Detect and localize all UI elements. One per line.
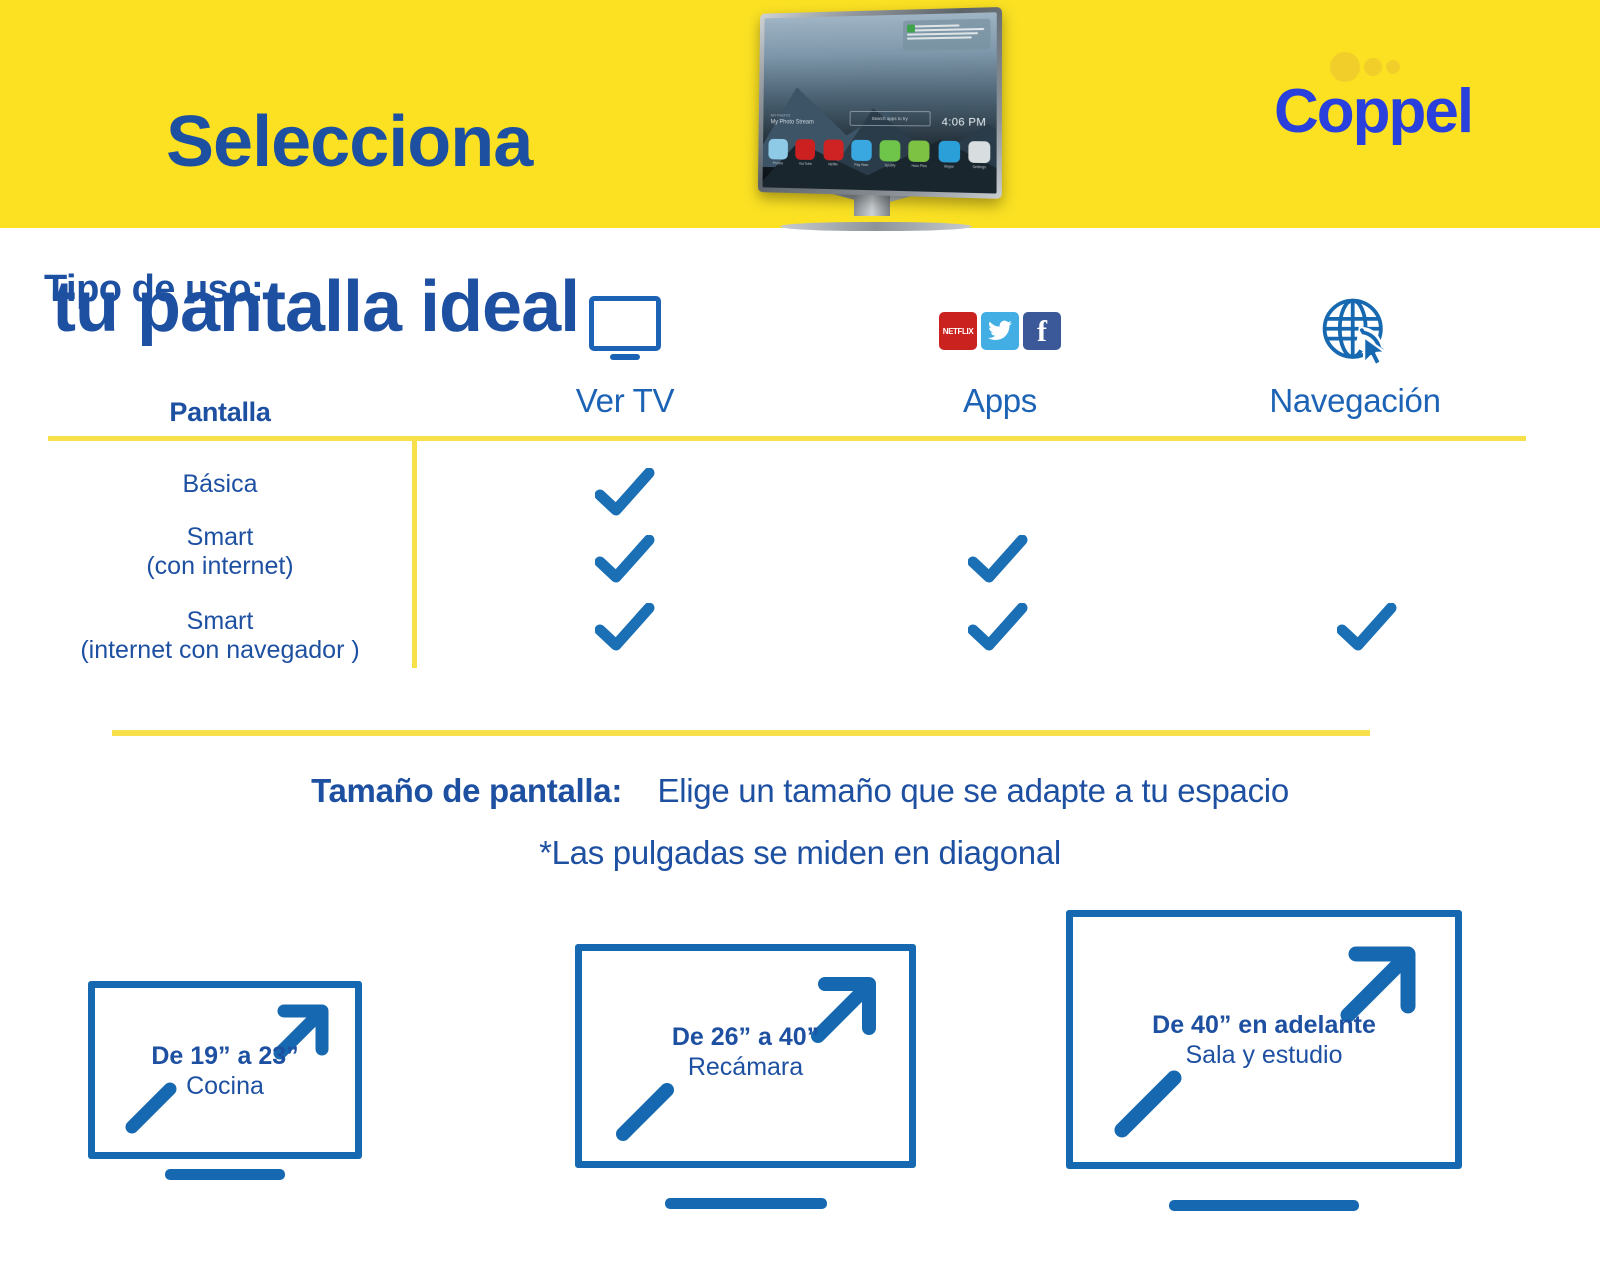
tv-dock-app: Hulu Plus [909,140,930,168]
tv-product-photo: MY PHOTO My Photo Stream Search apps to … [752,6,1010,242]
tv-dock-app: Pay Now [851,140,872,167]
column-header-apps: NETFLIX f Apps [885,292,1115,420]
column-label-vertv: Ver TV [576,382,674,419]
facebook-icon: f [1023,312,1061,350]
column-label-pantalla: Pantalla [169,397,270,427]
size-title: Tamaño de pantalla: [311,772,622,809]
tv-size-caption-small: De 19” a 23” Cocina [88,1041,362,1101]
tv-search-box: Search apps to try [850,111,931,126]
logo-wordmark: Coppel [1274,76,1472,147]
infographic-page: Selecciona tu pantalla ideal [0,0,1600,1280]
size-subtitle: Elige un tamaño que se adapte a tu espac… [658,772,1289,809]
column-label-navegacion: Navegación [1269,382,1440,419]
size-note: *Las pulgadas se miden en diagonal [0,834,1600,872]
twitter-icon [981,312,1019,350]
globe-cursor-icon [1317,293,1393,369]
tv-size-box-large: De 40” en adelante Sala y estudio [1066,910,1462,1169]
headline-line-1: Selecciona [166,102,532,182]
tv-size-box-small: De 19” a 23” Cocina [88,981,362,1159]
checkmark-smart-vertv [595,535,655,585]
tv-dock-app: Photos [768,139,788,166]
tv-dock-app: Spotify [880,140,901,168]
tv-size-box-mid: De 26” a 40” Recámara [575,944,916,1168]
tv-clock: 4:06 PM [942,116,986,129]
checkmark-smart-apps [968,535,1028,585]
checkmark-smart-navegador-apps [968,603,1028,653]
column-label-apps: Apps [963,382,1037,419]
checkmark-smart-navegador-navegacion [1337,603,1397,653]
netflix-icon: NETFLIX [939,312,977,350]
table-top-divider [48,436,1526,441]
checkmark-basica-vertv [595,468,655,518]
tv-size-stand-mid [665,1198,827,1209]
table-row-label-smart: Smart (con internet) [20,523,420,580]
tv-size-stand-small [165,1169,285,1180]
section-divider [112,730,1370,736]
tv-size-caption-large: De 40” en adelante Sala y estudio [1066,1010,1462,1070]
tv-size-stand-large [1169,1200,1359,1211]
tv-app-dock: Photos YouTube Netflix Pay Now Spotify H… [768,139,990,187]
column-header-navegacion: Navegación [1240,292,1470,420]
column-header-vertv: Ver TV [510,292,740,420]
tv-photo-stream-label: MY PHOTO My Photo Stream [771,113,814,128]
checkmark-smart-navegador-vertv [595,603,655,653]
app-tiles-icon: NETFLIX f [939,312,1061,350]
table-row-label-basica: Básica [20,470,420,499]
tv-photo-stream-small: MY PHOTO [771,113,814,119]
coppel-logo: Coppel [1274,52,1484,162]
header-banner: Selecciona tu pantalla ideal [0,0,1600,228]
tv-dock-app: YouTube [795,139,815,166]
table-row-label-smart-navegador: Smart (internet con navegador ) [20,607,420,664]
tv-photo-bezel: MY PHOTO My Photo Stream Search apps to … [758,7,1002,199]
section-title-size: Tamaño de pantalla: Elige un tamaño que … [0,772,1600,810]
tv-photo-screen: MY PHOTO My Photo Stream Search apps to … [762,12,996,193]
tv-dock-app: Settings [968,141,990,169]
column-header-pantalla: Pantalla [105,385,335,428]
tv-search-placeholder: Search apps to try [851,112,930,125]
tv-notification-widget [903,19,991,51]
tv-dock-app: Skype [938,141,960,169]
section-title-usage: Tipo de uso: [44,268,263,311]
monitor-icon [584,296,666,366]
tv-size-caption-mid: De 26” a 40” Recámara [575,1022,916,1082]
tv-photo-stream-text: My Photo Stream [771,119,814,125]
tv-dock-app: Netflix [823,139,843,166]
